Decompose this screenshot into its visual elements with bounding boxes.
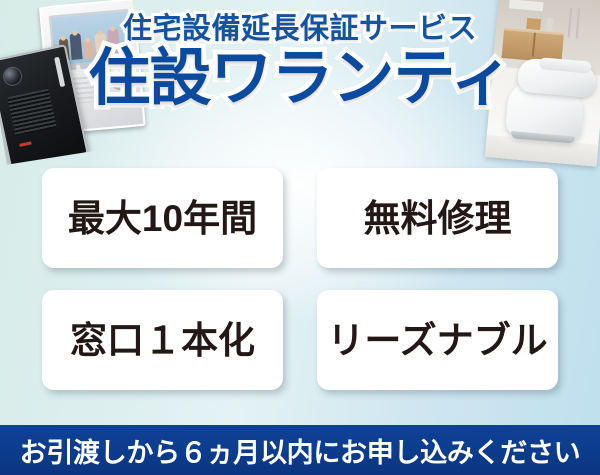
feature-label: 無料修理 — [364, 200, 512, 237]
banner-title: 住設ワランティ — [88, 46, 511, 113]
bottom-callout-bar: お引渡しから６ヵ月以内にお申し込みください — [0, 425, 600, 475]
banner-subtitle: 住宅設備延長保証サービス — [123, 14, 477, 44]
feature-label: リーズナブル — [327, 322, 547, 359]
promo-banner: 住宅設備延長保証サービス 住設ワランティ 最大10年間 無料修理 窓口１本化 リ… — [0, 0, 600, 475]
banner-header: 住宅設備延長保証サービス 住設ワランティ — [0, 0, 600, 162]
feature-box-max-years: 最大10年間 — [42, 168, 283, 268]
feature-grid: 最大10年間 無料修理 窓口１本化 リーズナブル — [42, 168, 558, 390]
feature-box-free-repair: 無料修理 — [317, 168, 558, 268]
bottom-callout-text: お引渡しから６ヵ月以内にお申し込みください — [20, 431, 581, 470]
feature-box-reasonable: リーズナブル — [317, 290, 558, 390]
feature-label: 最大10年間 — [68, 200, 257, 237]
feature-label: 窓口１本化 — [70, 322, 255, 359]
header-text-block: 住宅設備延長保証サービス 住設ワランティ — [0, 0, 600, 162]
feature-box-single-contact: 窓口１本化 — [42, 290, 283, 390]
